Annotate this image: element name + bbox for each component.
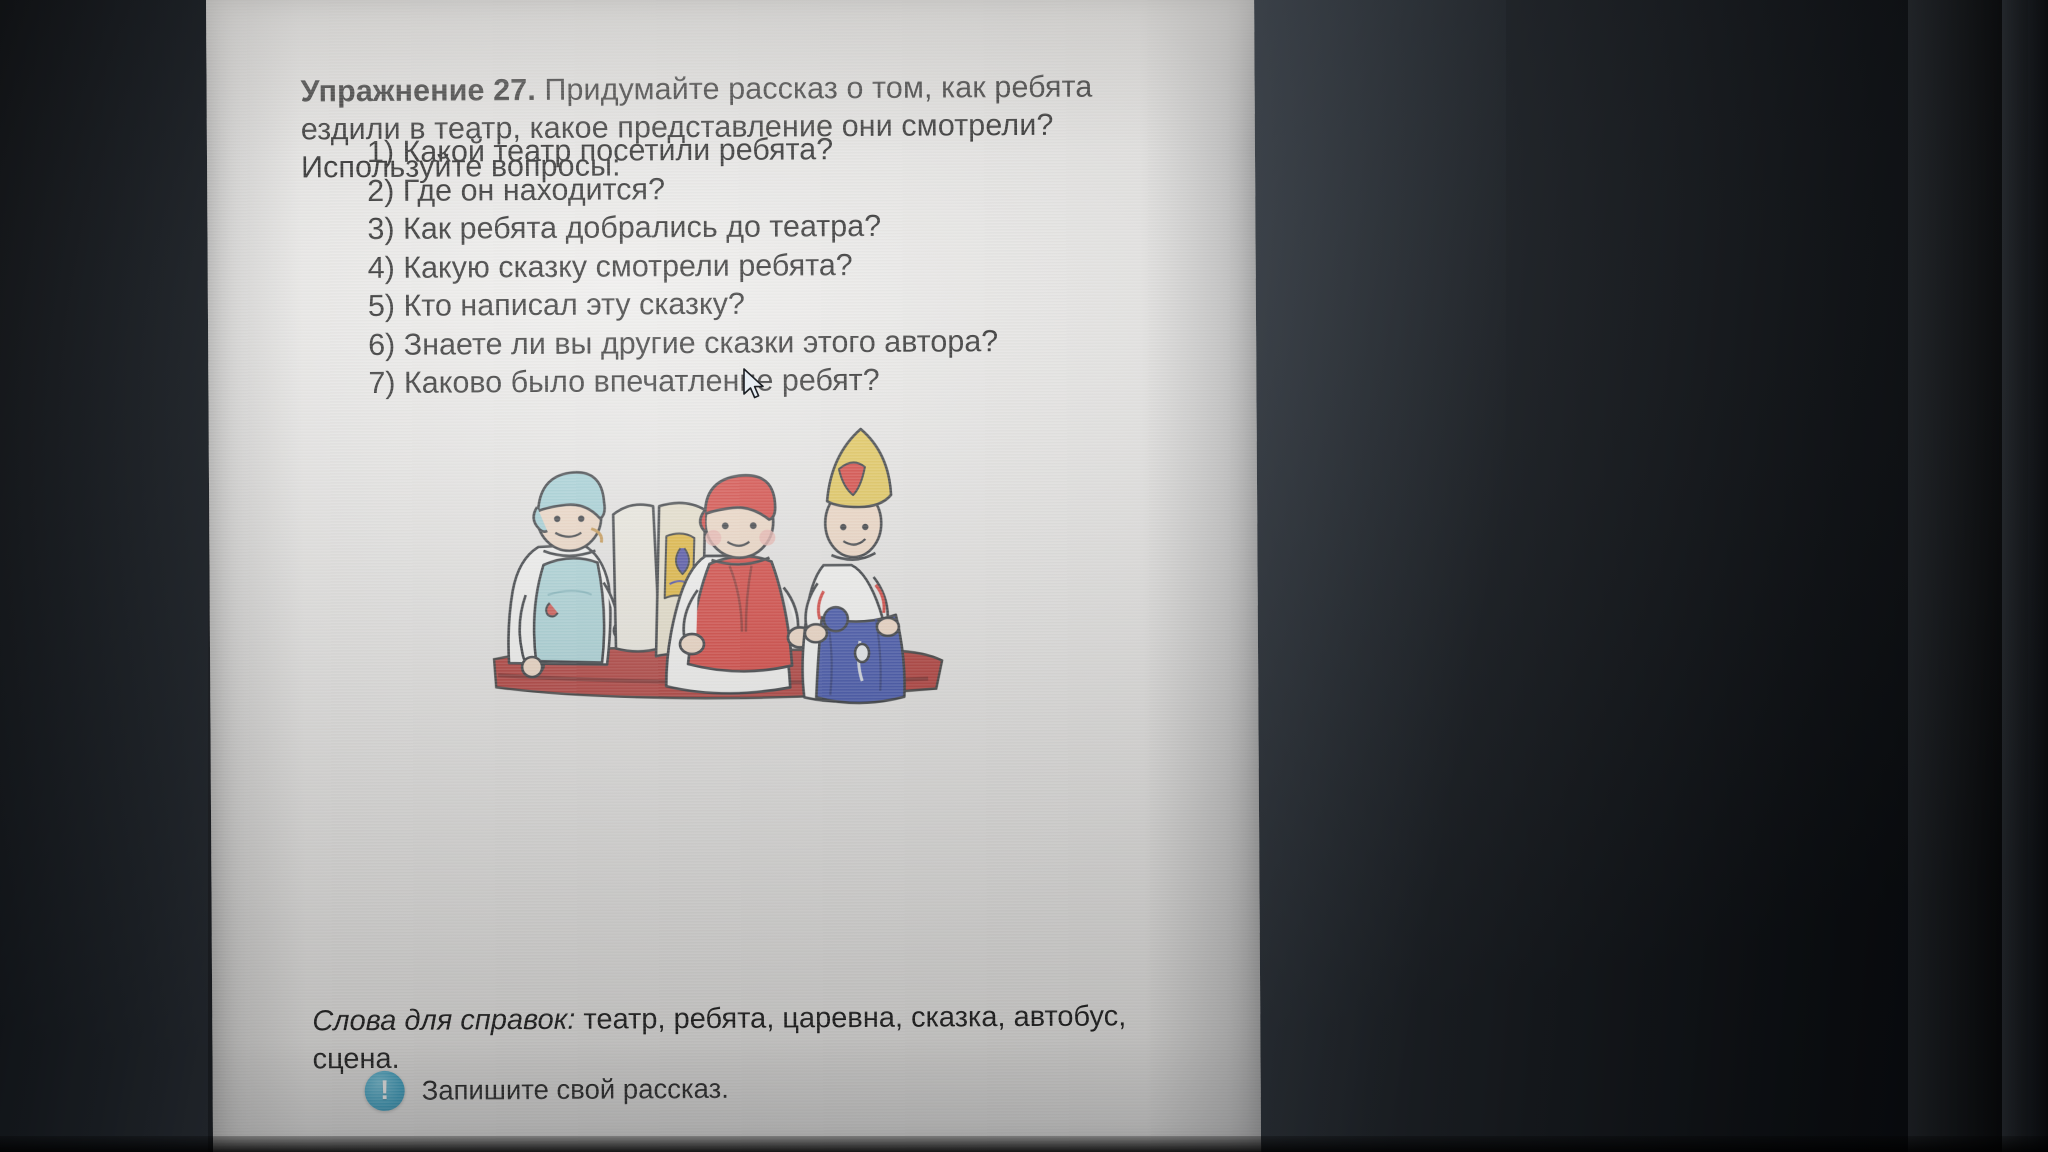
reference-words: Слова для справок: театр, ребята, царевн… (312, 997, 1172, 1078)
monitor-bezel-right (1246, 0, 2048, 1152)
reference-words-lead: Слова для справок: (312, 1004, 575, 1038)
exercise-label: Упражнение 27. (300, 72, 535, 107)
screen-photo: Упражнение 27. Придумайте рассказ о том,… (0, 0, 2048, 1152)
question-item: 3) Как ребята добрались до театра? (367, 205, 1247, 249)
bezel-glare (1246, 0, 1506, 1152)
textbook-page: Упражнение 27. Придумайте рассказ о том,… (206, 0, 1261, 1152)
monitor-bezel-left (0, 0, 208, 1152)
question-item: 5) Кто написал эту сказку? (368, 282, 1248, 326)
question-item: 1) Какой театр посетили ребята? (367, 128, 1247, 172)
question-list: 1) Какой театр посетили ребята? 2) Где о… (367, 128, 1249, 403)
illustration-three-characters (483, 404, 955, 717)
question-item: 6) Знаете ли вы другие сказки этого авто… (368, 320, 1248, 364)
desk-shadow (0, 1136, 2048, 1152)
arrow-cursor (742, 368, 768, 402)
question-item: 2) Где он находится? (367, 166, 1247, 210)
page-content: Упражнение 27. Придумайте рассказ о том,… (206, 0, 1261, 1152)
exclamation-circle-icon: ! (365, 1071, 405, 1111)
note-text: Запишите свой рассказ. (422, 1073, 729, 1107)
bezel-outer-edge (2002, 0, 2048, 1152)
write-your-story-note: ! Запишите свой рассказ. (365, 1069, 729, 1111)
question-item: 7) Каково было впечатление ребят? (368, 359, 1248, 403)
question-item: 4) Какую сказку смотрели ребята? (368, 243, 1248, 287)
